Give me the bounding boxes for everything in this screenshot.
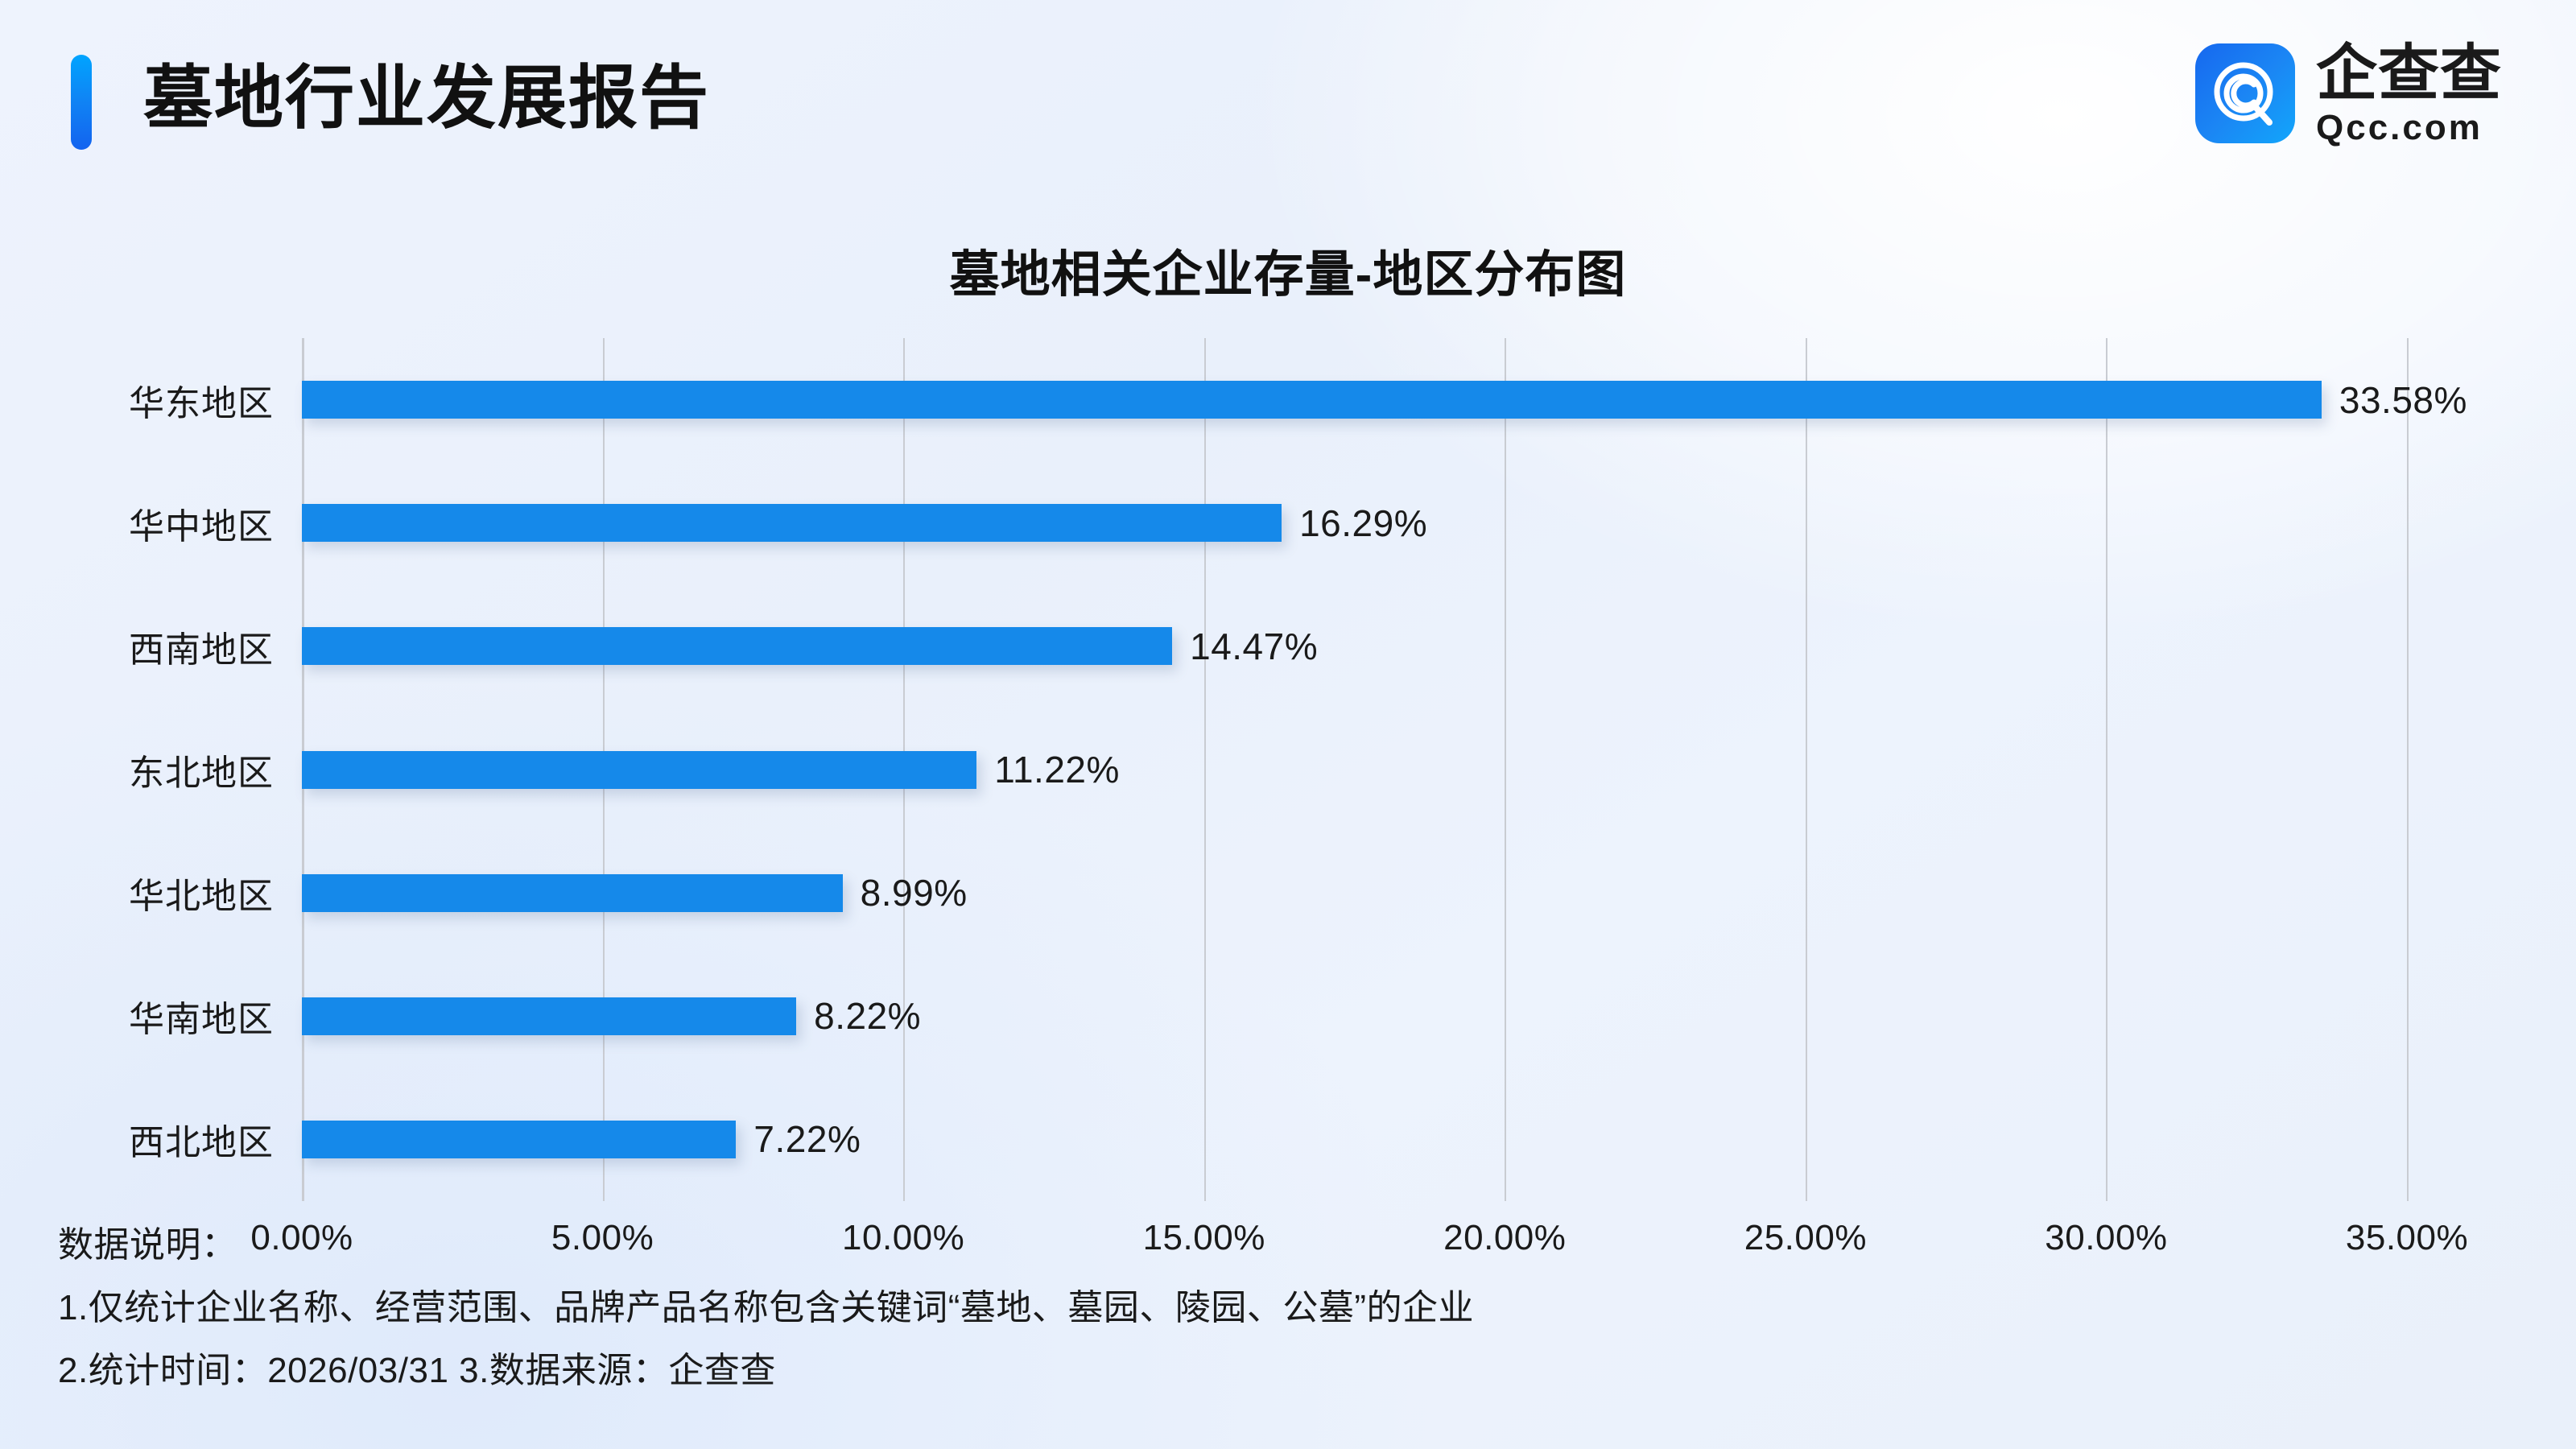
chart-bar[interactable]	[302, 1121, 736, 1158]
chart-gridline	[2407, 338, 2409, 1201]
page-title: 墓地行业发展报告	[143, 50, 710, 147]
chart-category-label: 西北地区	[129, 1113, 274, 1165]
chart-title: 墓地相关企业存量-地区分布图	[0, 233, 2576, 306]
chart-bar-row[interactable]: 7.22%	[302, 1121, 2407, 1158]
chart-category-label: 东北地区	[129, 744, 274, 795]
chart-x-axis-labels: 0.00%5.00%10.00%15.00%20.00%25.00%30.00%…	[302, 1218, 2407, 1274]
chart-bar[interactable]	[302, 874, 843, 912]
title-accent-bar-icon	[71, 55, 92, 150]
qcc-q-logo-icon	[2195, 43, 2295, 143]
brand-name-en: Qcc.com	[2316, 109, 2502, 147]
chart-bar-row[interactable]: 11.22%	[302, 751, 2407, 789]
chart-category-label: 西南地区	[129, 621, 274, 672]
chart-bar-value-label: 14.47%	[1190, 625, 1318, 668]
brand-name-cn: 企查查	[2316, 40, 2502, 108]
chart-y-axis-labels: 华东地区华中地区西南地区东北地区华北地区华南地区西北地区	[0, 338, 274, 1201]
chart-category-label: 华东地区	[129, 374, 274, 426]
brand-logo-text: 企查查 Qcc.com	[2316, 40, 2502, 147]
chart-x-tick-label: 10.00%	[842, 1218, 964, 1258]
chart-bar-value-label: 33.58%	[2339, 378, 2467, 422]
chart-bar-row[interactable]: 8.22%	[302, 997, 2407, 1035]
chart-bar[interactable]	[302, 751, 976, 789]
chart-x-tick-label: 20.00%	[1443, 1218, 1566, 1258]
chart-bar-value-label: 8.22%	[814, 994, 921, 1038]
chart-bar-row[interactable]: 33.58%	[302, 381, 2407, 419]
chart-x-tick-label: 5.00%	[551, 1218, 654, 1258]
chart-plot-area: 33.58%16.29%14.47%11.22%8.99%8.22%7.22%	[302, 338, 2407, 1201]
chart-x-tick-label: 30.00%	[2045, 1218, 2167, 1258]
chart-bar-value-label: 8.99%	[861, 871, 968, 914]
note-line-2: 2.统计时间：2026/03/31 3.数据来源：企查查	[58, 1340, 776, 1402]
chart-bar-row[interactable]: 14.47%	[302, 627, 2407, 665]
chart-bar-value-label: 16.29%	[1299, 502, 1427, 545]
chart-category-label: 华中地区	[129, 497, 274, 549]
report-page: 墓地行业发展报告 企查查 Qcc.com 墓地相关企业存量-地区分布图 华东地区…	[0, 0, 2576, 1449]
chart-category-label: 华南地区	[129, 990, 274, 1042]
chart-bar[interactable]	[302, 627, 1172, 665]
chart-x-tick-label: 35.00%	[2346, 1218, 2468, 1258]
chart-bar-row[interactable]: 8.99%	[302, 874, 2407, 912]
note-line-1: 1.仅统计企业名称、经营范围、品牌产品名称包含关键词“墓地、墓园、陵园、公墓”的…	[58, 1277, 1474, 1340]
chart-x-tick-label: 25.00%	[1744, 1218, 1867, 1258]
chart-bar[interactable]	[302, 381, 2322, 419]
chart-x-tick-label: 0.00%	[250, 1218, 353, 1258]
chart-category-label: 华北地区	[129, 867, 274, 919]
chart-bar-value-label: 11.22%	[994, 748, 1120, 791]
chart-bar-value-label: 7.22%	[753, 1117, 861, 1161]
chart-bar[interactable]	[302, 997, 796, 1035]
notes-label: 数据说明：	[58, 1214, 237, 1277]
brand-logo: 企查查 Qcc.com	[2195, 40, 2502, 147]
chart-x-tick-label: 15.00%	[1143, 1218, 1265, 1258]
chart-bar-row[interactable]: 16.29%	[302, 504, 2407, 542]
chart-bar[interactable]	[302, 504, 1282, 542]
page-header: 墓地行业发展报告 企查查 Qcc.com	[0, 0, 2576, 201]
